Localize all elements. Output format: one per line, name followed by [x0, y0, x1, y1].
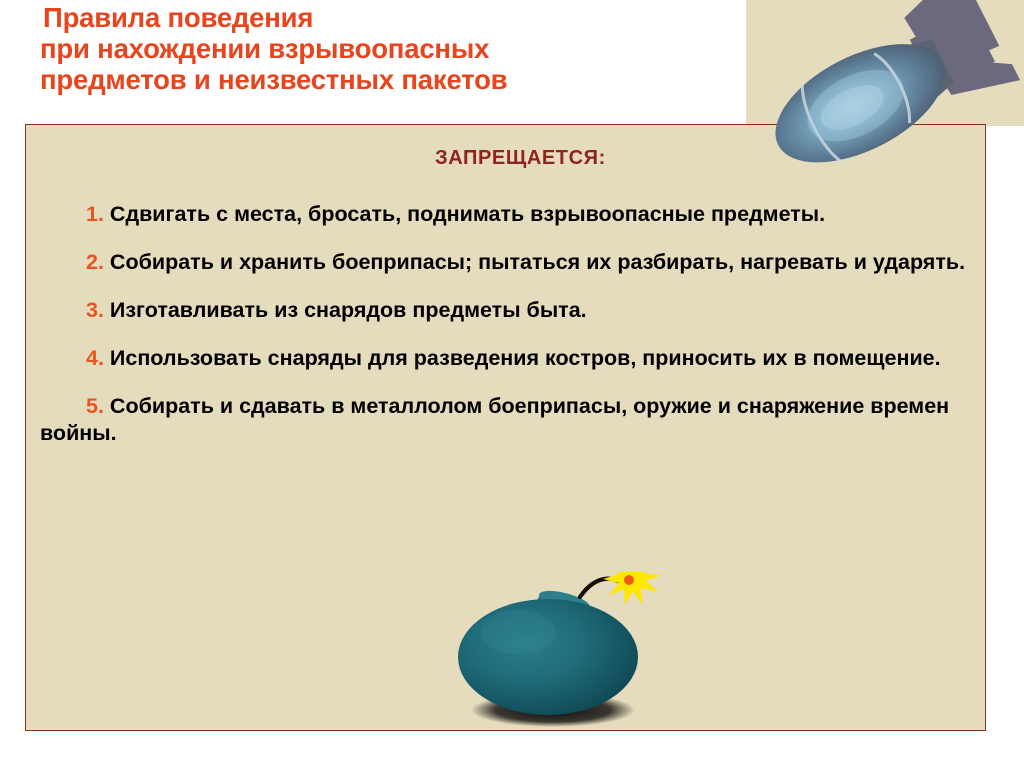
- title-line-1: Правила поведения: [40, 2, 740, 33]
- aerial-bomb-icon: [752, 0, 1024, 174]
- title-plate: Правила поведения при нахождении взрывоо…: [0, 0, 746, 124]
- title-line-3: предметов и неизвестных пакетов: [40, 64, 740, 95]
- title-line-2: при нахождении взрывоопасных: [40, 33, 740, 64]
- rule-text: Сдвигать с места, бросать, поднимать взр…: [104, 202, 825, 226]
- rules-list: 1. Сдвигать с места, бросать, поднимать …: [40, 201, 975, 468]
- round-bomb-icon: [430, 572, 680, 732]
- page-title: Правила поведения при нахождении взрывоо…: [40, 2, 740, 95]
- rule-text: Изготавливать из снарядов предметы быта.: [104, 298, 587, 322]
- rule-number: 3.: [86, 298, 104, 322]
- rule-text: Собирать и хранить боеприпасы; пытаться …: [104, 250, 965, 274]
- rule-number: 5.: [86, 394, 104, 418]
- rule-number: 1.: [86, 202, 104, 226]
- rule-text: Собирать и сдавать в металлолом боеприпа…: [40, 394, 949, 445]
- list-item: 2. Собирать и хранить боеприпасы; пытать…: [40, 249, 975, 276]
- list-item: 1. Сдвигать с места, бросать, поднимать …: [40, 201, 975, 228]
- rule-number: 4.: [86, 346, 104, 370]
- list-item: 3. Изготавливать из снарядов предметы бы…: [40, 297, 975, 324]
- rule-number: 2.: [86, 250, 104, 274]
- list-item: 4. Использовать снаряды для разведения к…: [40, 345, 975, 372]
- rule-text: Использовать снаряды для разведения кост…: [104, 346, 941, 370]
- corner-notch: [986, 126, 1024, 166]
- list-item: 5. Собирать и сдавать в металлолом боепр…: [40, 393, 975, 447]
- slide-canvas: ЗАПРЕЩАЕТСЯ: 1. Сдвигать с места, бросат…: [0, 0, 1024, 767]
